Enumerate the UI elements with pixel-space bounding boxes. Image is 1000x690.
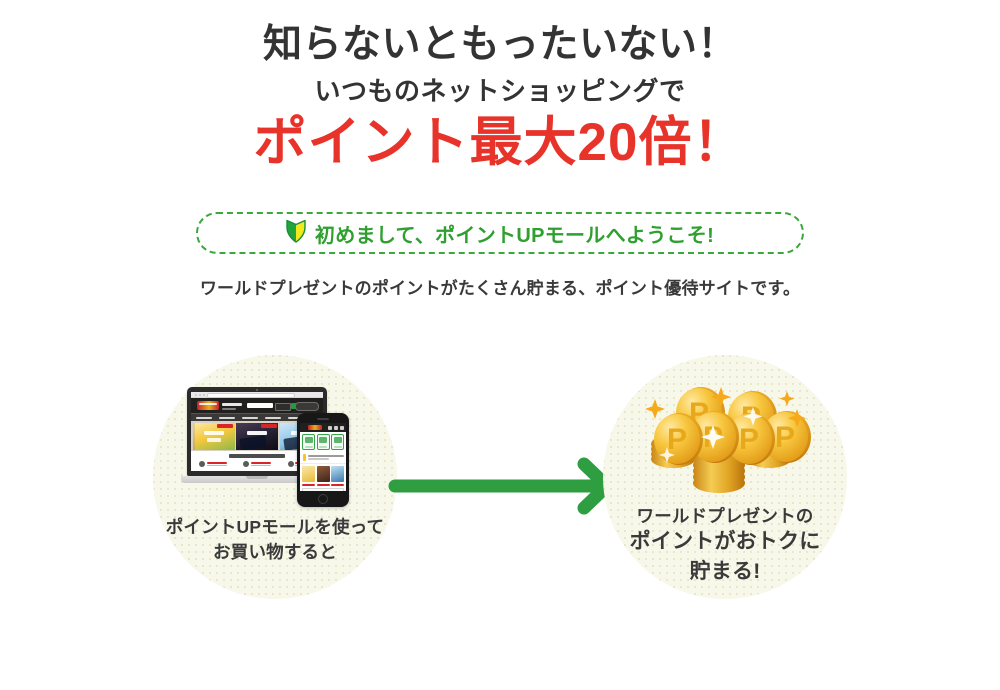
flow-step-shop-caption: ポイントUPモールを使って お買い物すると <box>153 515 397 565</box>
beginner-badge-icon <box>286 219 306 248</box>
caption-line: お買い物すると <box>153 540 397 565</box>
flow-step-earn: P P P P <box>603 355 847 599</box>
svg-text:P: P <box>775 421 795 454</box>
site-description: ワールドプレゼントのポイントがたくさん貯まる、ポイント優待サイトです。 <box>0 274 1000 299</box>
hero-line-1: 知らないともったいない！ <box>0 22 1000 68</box>
flow-step-shop: ポイントUPモールを使って お買い物すると <box>153 355 397 599</box>
hero-line-2: いつものネットショッピングで <box>0 74 1000 108</box>
smartphone-icon <box>297 413 349 507</box>
gold-point-coins-illustration: P P P P <box>637 385 813 493</box>
flow-step-earn-caption-line-1: ワールドプレゼントの <box>603 504 847 529</box>
flow-step-earn-caption: ポイントがおトクに 貯まる! <box>603 527 847 587</box>
svg-text:P: P <box>667 423 687 456</box>
caption-line: ポイントUPモールを使って <box>153 515 397 540</box>
arrow-right-icon <box>388 455 628 517</box>
hero-headline: 知らないともったいない！ いつものネットショッピングで ポイント最大20倍！ <box>0 0 1000 174</box>
welcome-banner: 初めまして、ポイントUPモールへようこそ! <box>196 212 804 254</box>
laptop-and-smartphone-illustration <box>181 387 371 507</box>
hero-line-3-highlight: ポイント最大20倍！ <box>0 112 1000 174</box>
caption-line: ポイントがおトクに <box>603 527 847 557</box>
svg-text:P: P <box>739 423 759 456</box>
welcome-banner-text: 初めまして、ポイントUPモールへようこそ! <box>315 219 714 248</box>
caption-line: 貯まる! <box>603 557 847 587</box>
smartphone-screen-content <box>300 423 346 491</box>
promo-page: 知らないともったいない！ いつものネットショッピングで ポイント最大20倍！ 初… <box>0 0 1000 690</box>
